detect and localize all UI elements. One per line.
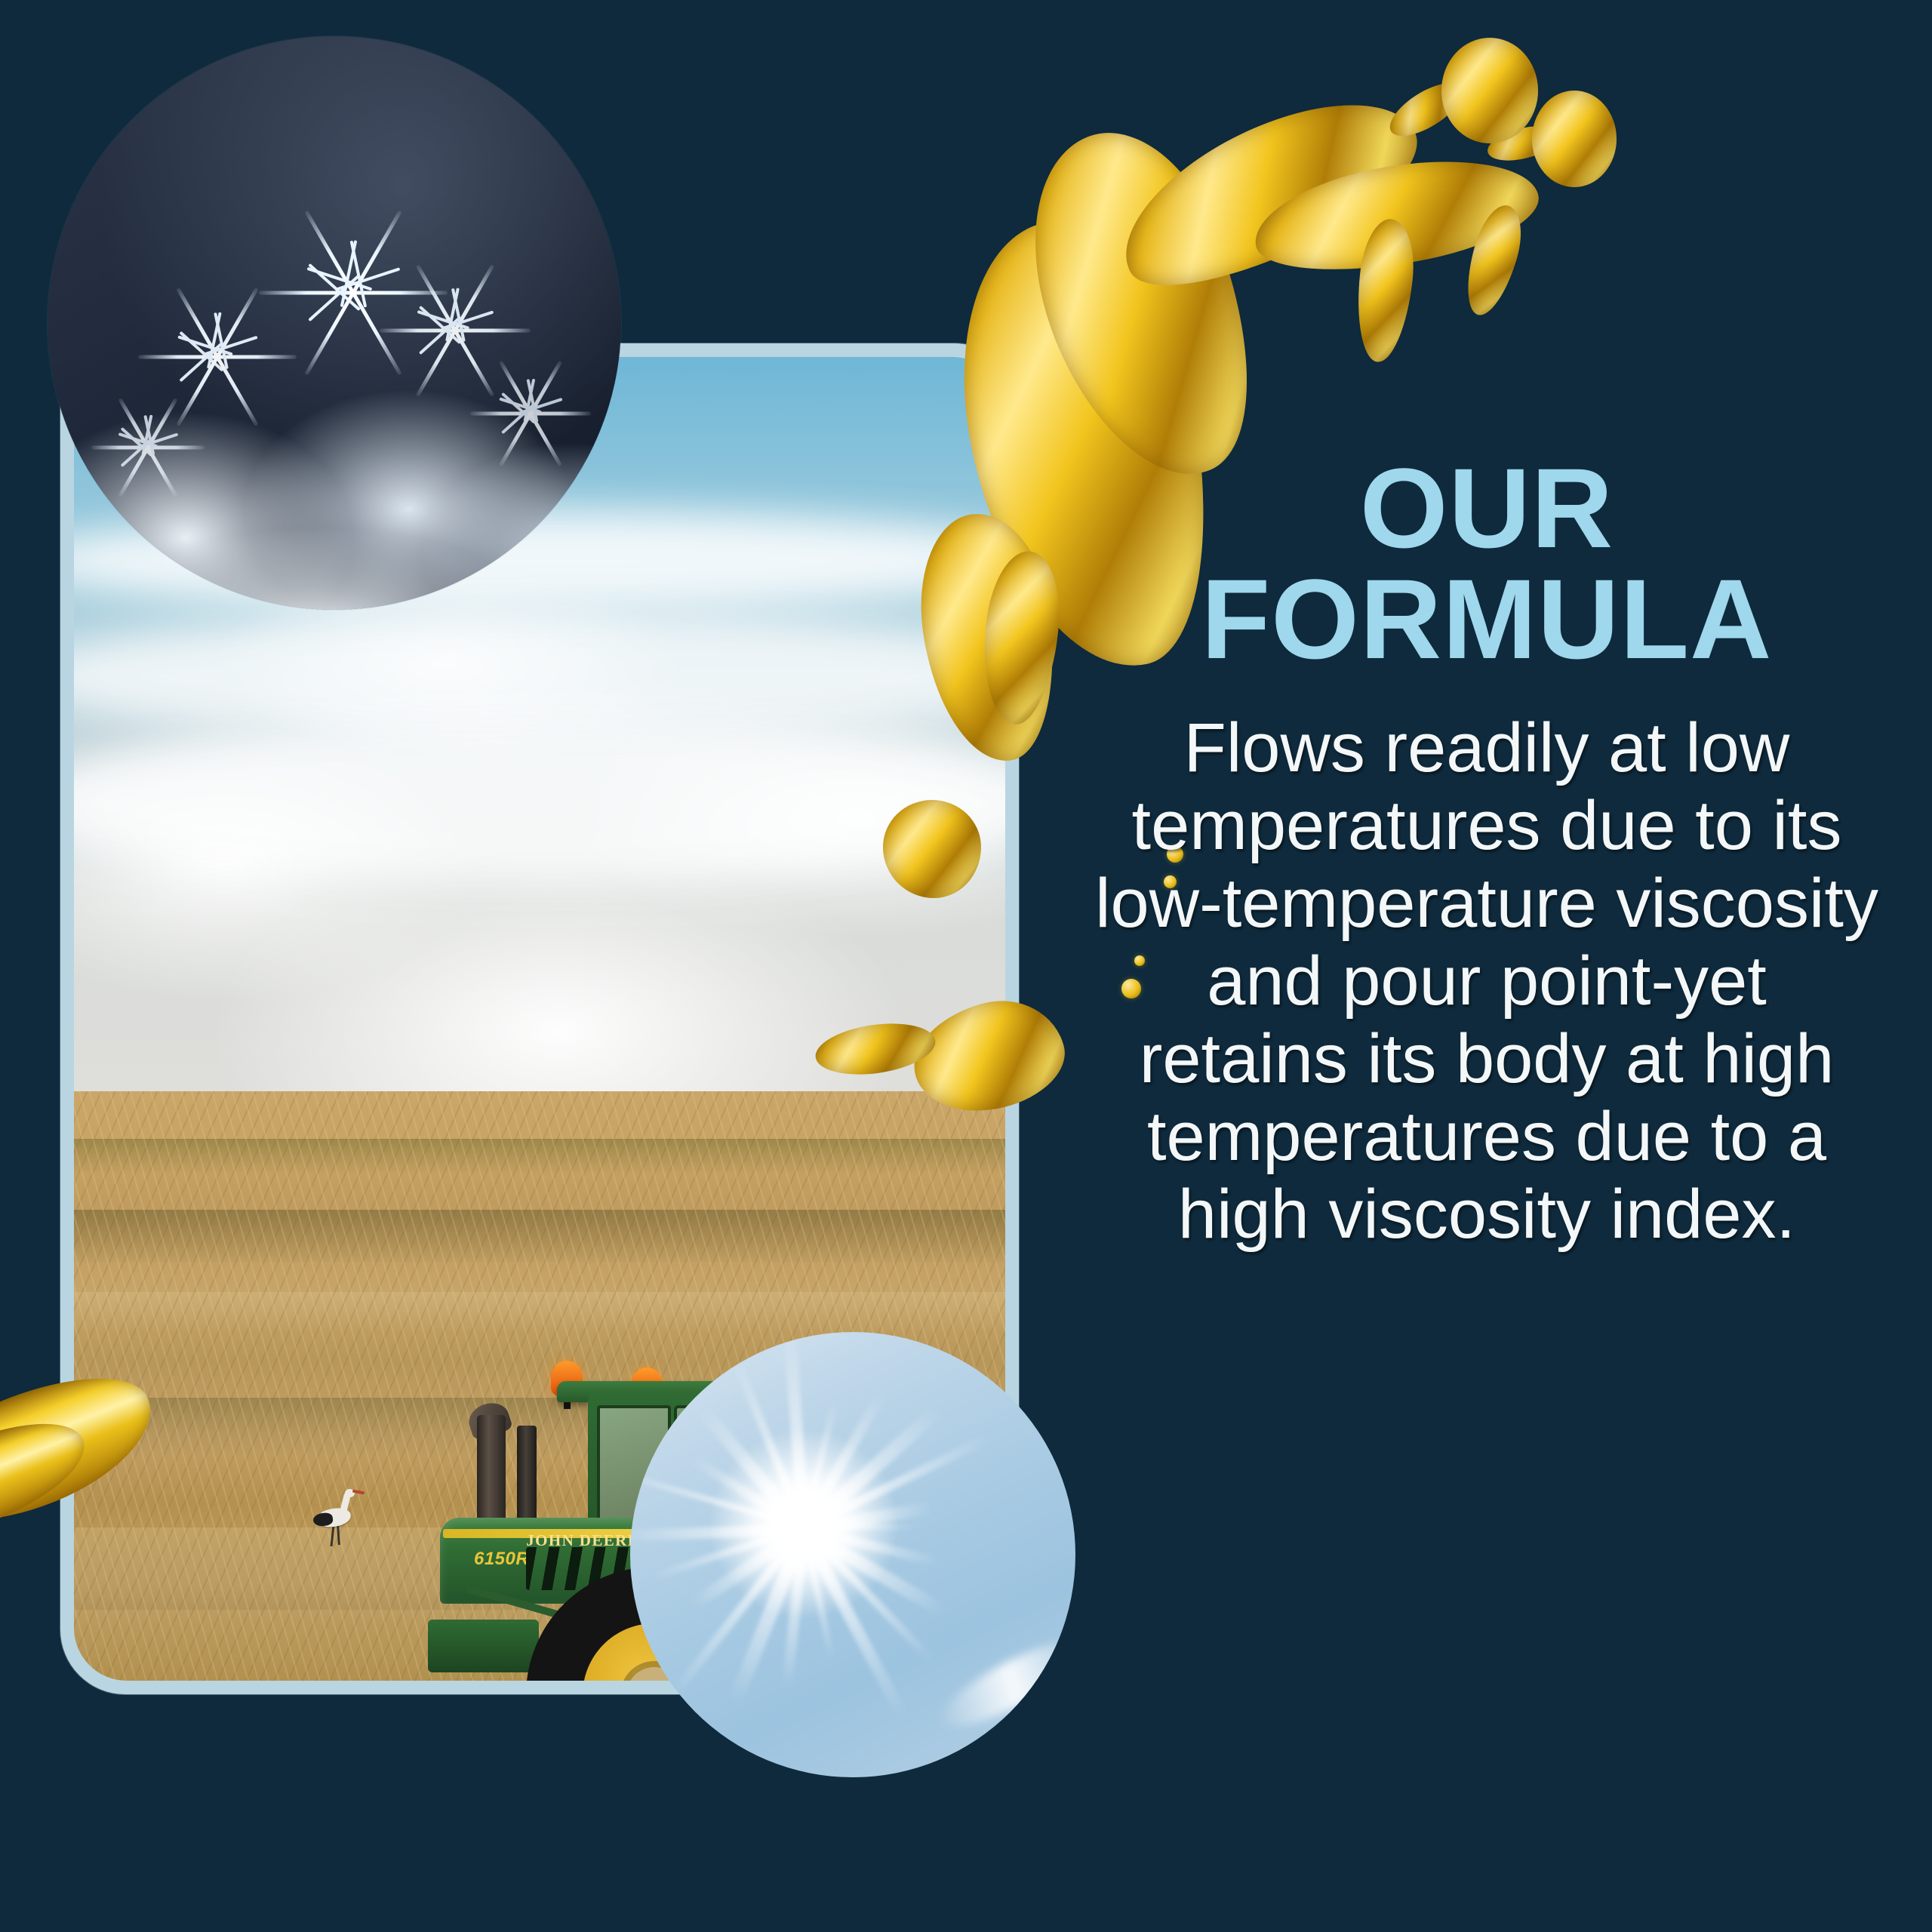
poster-canvas: JOHN DEERE 6150R 36 (0, 0, 1932, 1932)
bird-leg (330, 1525, 334, 1546)
sun-icon (710, 1430, 897, 1617)
oil-stream (1097, 66, 1438, 320)
hot-weather-badge (630, 1332, 1075, 1777)
oil-stream (1351, 217, 1418, 365)
text-column: OUR FORMULA Flows readily at low tempera… (1094, 453, 1879, 1254)
oil-droplet (1532, 91, 1617, 187)
cold-weather-badge (48, 36, 621, 610)
stork-bird (312, 1486, 360, 1551)
body-paragraph: Flows readily at low temperatures due to… (1094, 709, 1879, 1254)
page-title-line2: FORMULA (1094, 564, 1879, 675)
cloud-band (74, 718, 1005, 887)
oil-droplet (1441, 38, 1538, 143)
tractor-model-label: 6150R (474, 1549, 529, 1570)
page-title: OUR FORMULA (1094, 453, 1879, 675)
oil-blob (989, 106, 1297, 505)
oil-stream (1484, 120, 1562, 167)
oil-stream (1382, 72, 1471, 146)
snowflake-icon (470, 353, 591, 474)
oil-stream (1457, 200, 1530, 321)
exhaust-stack (517, 1426, 537, 1524)
bird-leg (337, 1525, 340, 1545)
oil-stream (1247, 142, 1546, 288)
exhaust-stack (477, 1415, 506, 1527)
snowflake-icon (91, 391, 205, 504)
front-weight-block (428, 1620, 539, 1672)
page-title-line1: OUR (1360, 445, 1614, 571)
lens-flare-streak (932, 1626, 1075, 1741)
